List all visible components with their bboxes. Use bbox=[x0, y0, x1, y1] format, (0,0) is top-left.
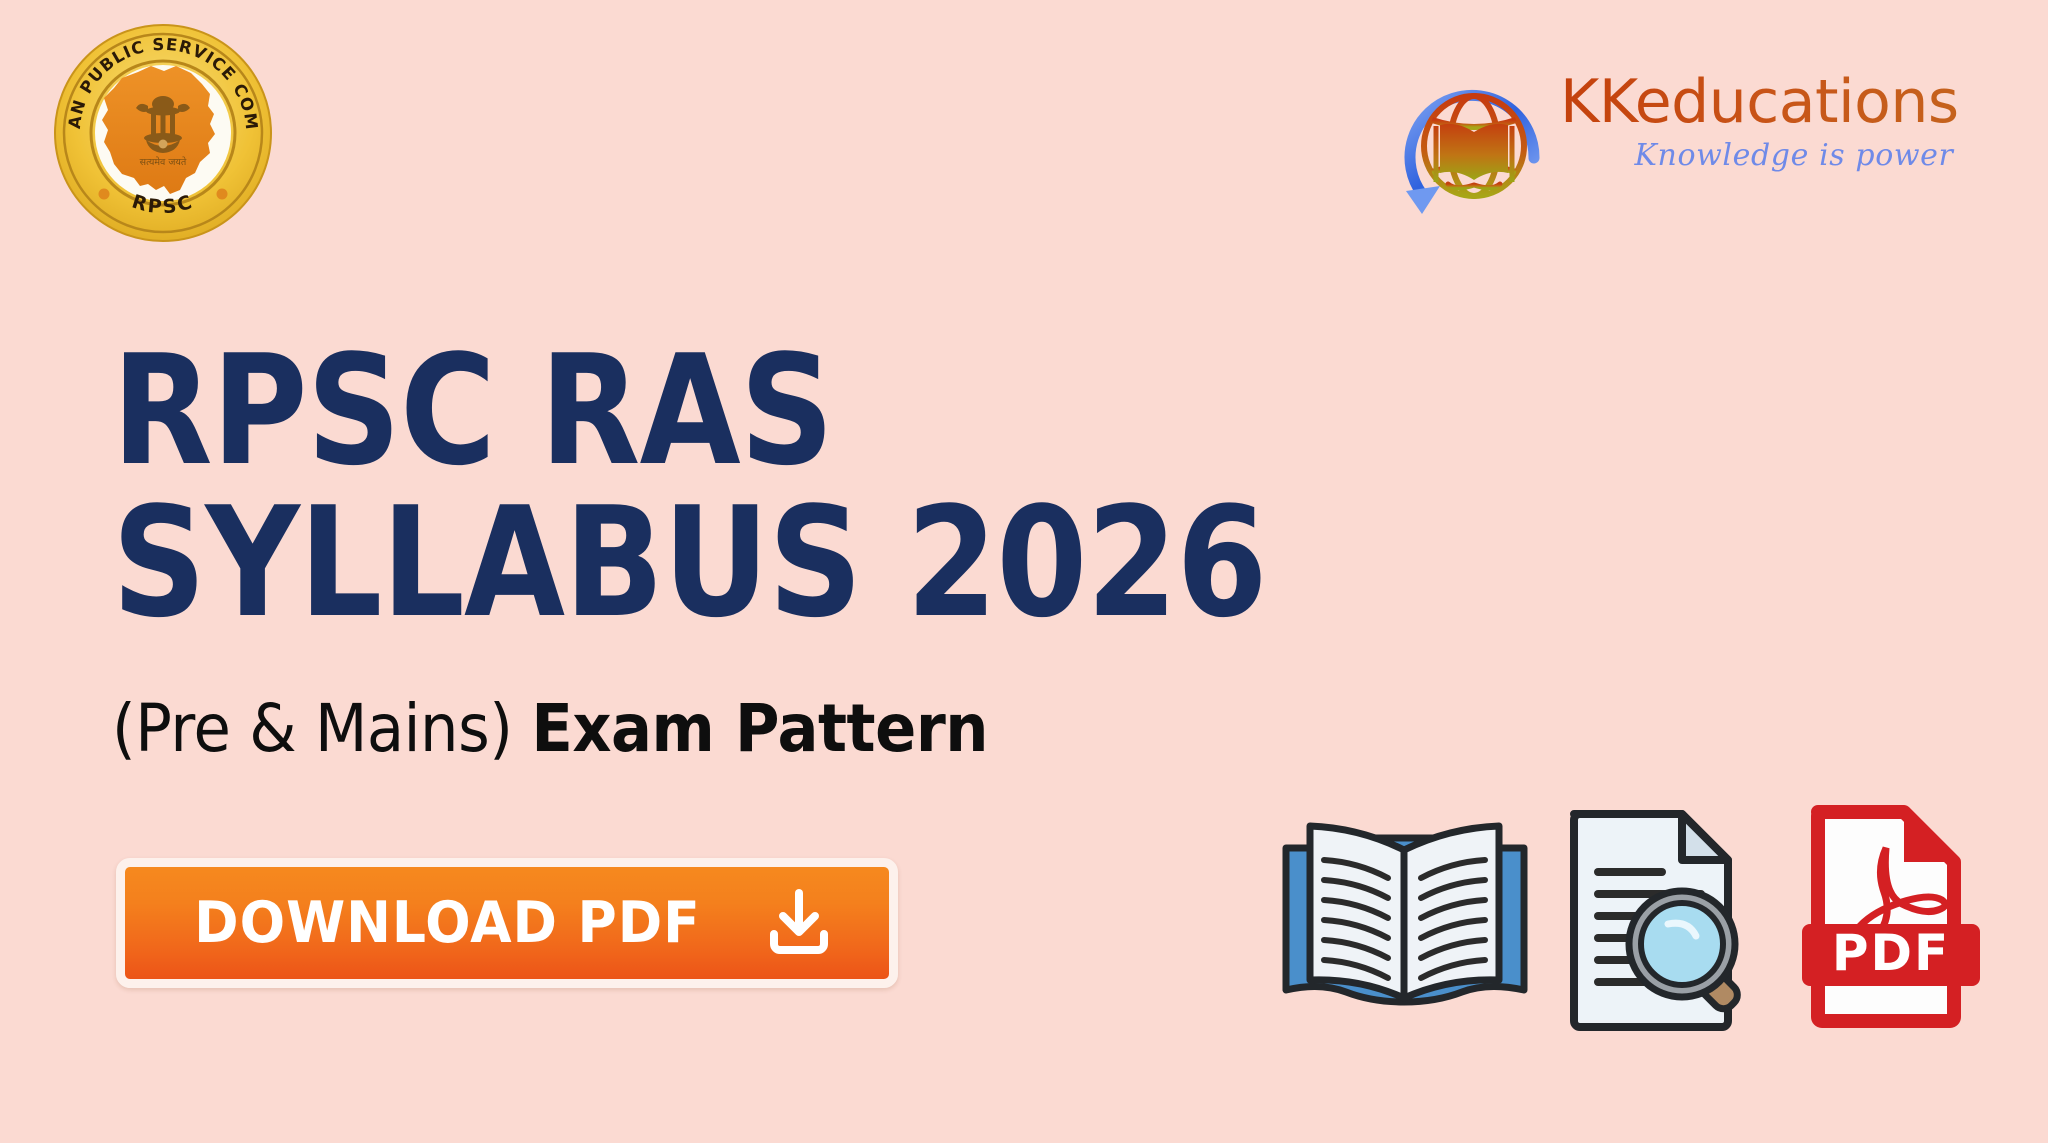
document-magnifier-icon bbox=[1560, 800, 1775, 1035]
headline-line-1: RPSC RAS bbox=[112, 338, 1230, 484]
banner-canvas: RAJASTHAN PUBLIC SERVICE COMMISSION RPSC bbox=[0, 0, 2048, 1143]
download-pdf-button-label: DOWNLOAD PDF bbox=[194, 890, 701, 956]
subtitle-bold-part: Exam Pattern bbox=[531, 690, 988, 767]
illustration-cluster: PDF bbox=[1272, 800, 1982, 1035]
open-book-icon bbox=[1272, 800, 1537, 1035]
rpsc-motto-text: सत्यमेव जयते bbox=[140, 156, 187, 168]
kkeducations-tagline: Knowledge is power bbox=[1560, 138, 2012, 173]
kkeducations-name: KKeducations bbox=[1560, 72, 2012, 132]
download-tray-icon bbox=[762, 886, 836, 960]
book-shape bbox=[1436, 124, 1512, 188]
subtitle: (Pre & Mains) Exam Pattern bbox=[112, 690, 988, 767]
kkeducations-logo: KKeducations Knowledge is power bbox=[1382, 50, 2012, 230]
pdf-file-icon: PDF bbox=[1800, 800, 1982, 1035]
rpsc-seal-icon: RAJASTHAN PUBLIC SERVICE COMMISSION RPSC bbox=[52, 22, 274, 244]
page-title: RPSC RAS SYLLABUS 2026 bbox=[112, 338, 1412, 636]
subtitle-bracket-part: (Pre & Mains) bbox=[112, 690, 512, 767]
globe-book-arrow-icon bbox=[1382, 54, 1557, 229]
download-pdf-button[interactable]: DOWNLOAD PDF bbox=[116, 858, 898, 988]
headline-line-2: SYLLABUS 2026 bbox=[112, 490, 1230, 636]
pdf-badge-label: PDF bbox=[1832, 924, 1950, 982]
